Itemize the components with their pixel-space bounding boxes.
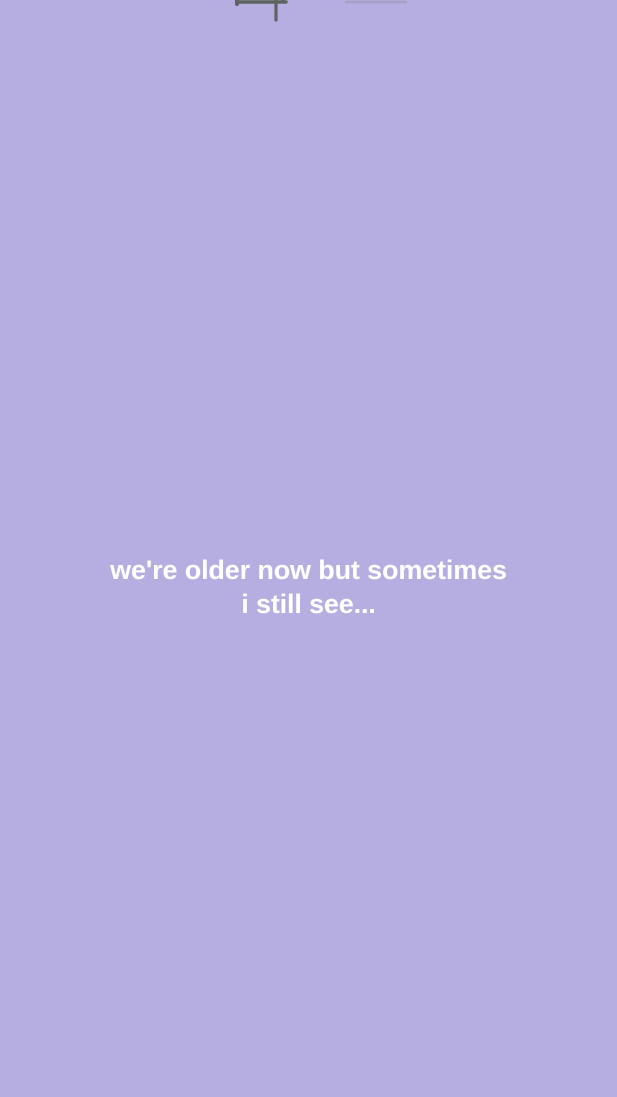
story-canvas: we're older now but sometimes i still se… bbox=[0, 0, 617, 1097]
caption-line-1: we're older now but sometimes bbox=[0, 553, 617, 587]
caption-block: we're older now but sometimes i still se… bbox=[0, 553, 617, 621]
top-clipped-region bbox=[0, 0, 617, 30]
top-faint-mark bbox=[345, 1, 407, 3]
cut-off-graphic-icon bbox=[228, 0, 400, 22]
caption-line-2: i still see... bbox=[0, 587, 617, 621]
